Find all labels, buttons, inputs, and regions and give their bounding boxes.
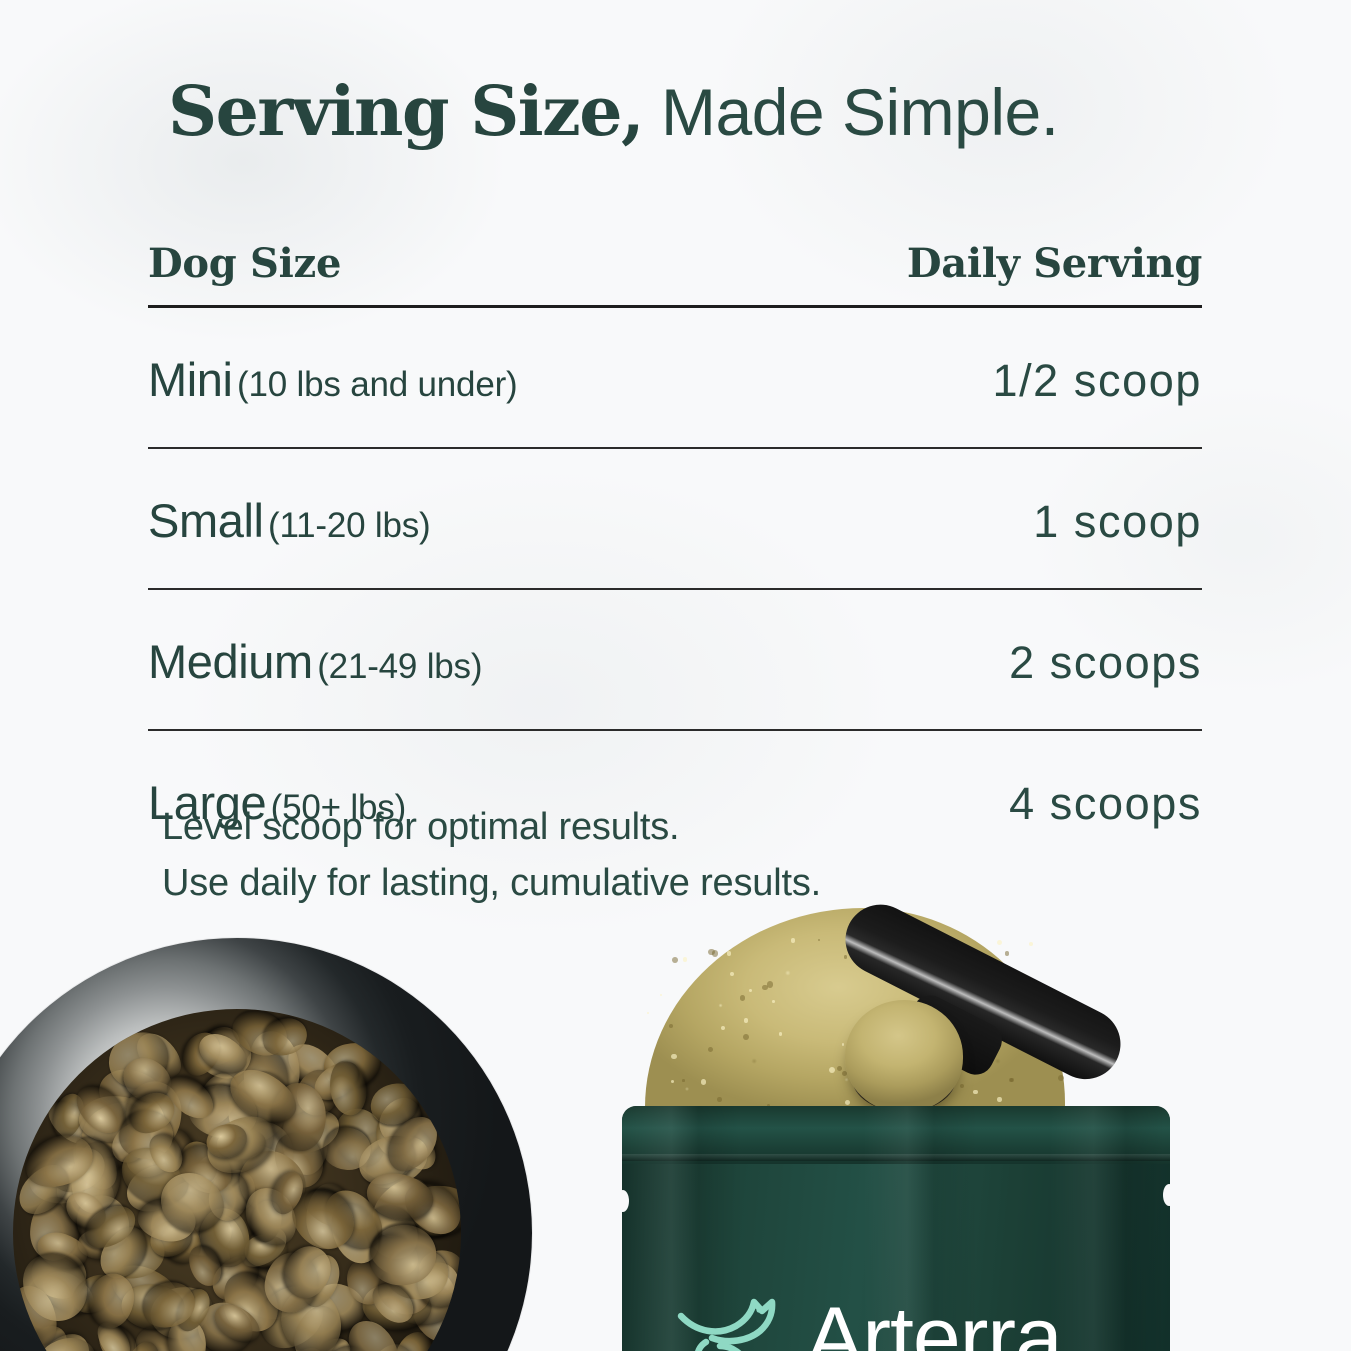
column-header-dog-size: Dog Size <box>148 240 341 287</box>
dog-food-bowl-image <box>0 938 532 1351</box>
table-header-row: Dog Size Daily Serving <box>148 240 1202 305</box>
usage-note-line-1: Level scoop for optimal results. <box>162 800 821 856</box>
brand-lockup: Arterra <box>676 1280 1062 1351</box>
usage-note-line-2: Use daily for lasting, cumulative result… <box>162 856 821 912</box>
column-header-daily-serving: Daily Serving <box>907 240 1202 287</box>
page-title-light: Made Simple. <box>643 75 1058 149</box>
table-row: Small (11-20 lbs) 1 scoop <box>148 449 1202 588</box>
cell-dog-size: Medium (21-49 lbs) <box>148 634 482 689</box>
brand-name: Arterra <box>806 1302 1062 1351</box>
cell-daily-serving: 4 scoops <box>1009 778 1202 830</box>
cell-daily-serving: 2 scoops <box>1009 637 1202 689</box>
dog-size-range: (10 lbs and under) <box>237 365 517 404</box>
dog-logo-icon <box>676 1280 780 1351</box>
page-title-bold: Serving Size, <box>168 72 643 152</box>
table-row: Mini (10 lbs and under) 1/2 scoop <box>148 308 1202 447</box>
dog-size-name: Medium <box>148 635 313 688</box>
dog-size-name: Mini <box>148 353 233 406</box>
page-title: Serving Size, Made Simple. <box>168 78 1059 146</box>
usage-notes: Level scoop for optimal results. Use dai… <box>162 800 821 912</box>
serving-size-table: Dog Size Daily Serving Mini (10 lbs and … <box>148 240 1202 870</box>
scoop-bowl-with-powder <box>845 1000 963 1112</box>
dog-size-range: (21-49 lbs) <box>317 647 482 686</box>
dog-size-name: Small <box>148 494 264 547</box>
bag-tear-notch-right <box>1163 1184 1170 1206</box>
cell-daily-serving: 1 scoop <box>1033 496 1202 548</box>
table-row: Medium (21-49 lbs) 2 scoops <box>148 590 1202 729</box>
dog-size-range: (11-20 lbs) <box>268 506 431 545</box>
cell-dog-size: Mini (10 lbs and under) <box>148 352 518 407</box>
cell-dog-size: Small (11-20 lbs) <box>148 493 430 548</box>
product-bag-image: Arterra <box>622 1106 1170 1351</box>
cell-daily-serving: 1/2 scoop <box>992 355 1202 407</box>
serving-size-infographic: Serving Size, Made Simple. Dog Size Dail… <box>0 0 1351 1351</box>
